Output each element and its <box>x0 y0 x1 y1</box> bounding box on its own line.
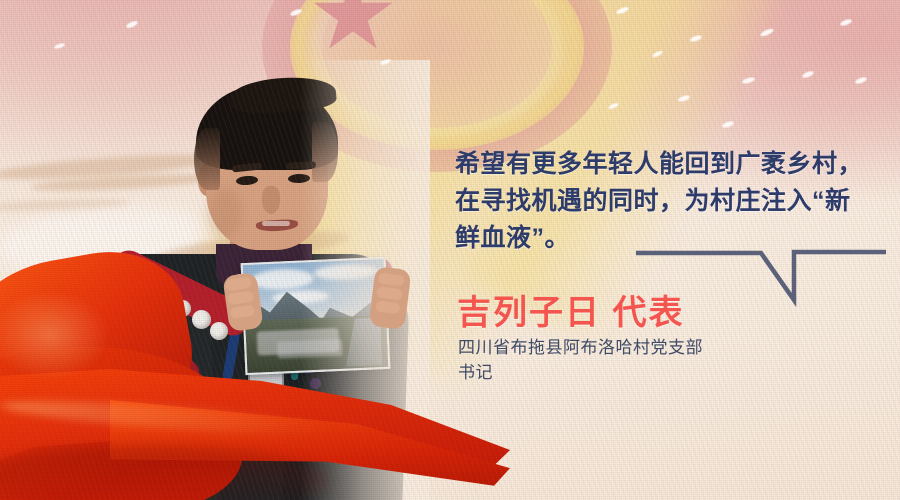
poster-canvas: 希望有更多年轻人能回到广袤乡村， 在寻找机遇的同时，为村庄注入“新 鲜血液”。 … <box>0 0 900 500</box>
finger <box>376 286 403 300</box>
finger <box>230 305 255 319</box>
speaker-role: 四川省布拖县阿布洛哈村党支部 书记 <box>458 335 788 385</box>
hand-right <box>368 266 411 330</box>
speaker-role-line-2: 书记 <box>458 360 788 385</box>
speaker-role-line-1: 四川省布拖县阿布洛哈村党支部 <box>458 335 788 360</box>
finger <box>225 277 252 292</box>
quote-line-1: 希望有更多年轻人能回到广袤乡村， <box>455 146 875 183</box>
finger <box>227 291 254 306</box>
quote-text: 希望有更多年轻人能回到广袤乡村， 在寻找机遇的同时，为村庄注入“新 鲜血液”。 <box>455 146 875 257</box>
finger <box>375 300 400 314</box>
quote-line-2: 在寻找机遇的同时，为村庄注入“新 <box>455 183 875 220</box>
speaker-name: 吉列子日 代表 <box>457 285 684 334</box>
finger <box>378 272 405 286</box>
